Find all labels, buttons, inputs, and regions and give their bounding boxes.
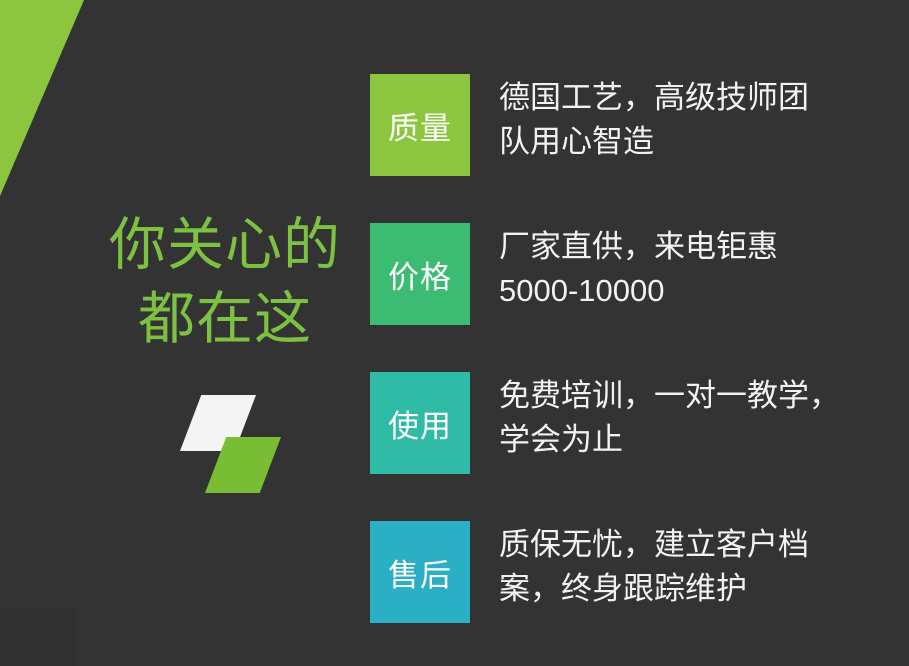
feature-badge-after-sales: 售后 xyxy=(370,521,470,623)
feature-description-line-1: 免费培训，一对一教学， xyxy=(499,374,909,418)
feature-description-line-2: 队用心智造 xyxy=(499,120,909,164)
feature-description-line-1: 德国工艺，高级技师团 xyxy=(499,76,909,120)
feature-row-price: 价格 厂家直供，来电钜惠 5000-10000 xyxy=(370,223,909,325)
feature-row-usage: 使用 免费培训，一对一教学， 学会为止 xyxy=(370,372,909,474)
page-title-line-2: 都在这 xyxy=(60,282,390,356)
feature-badge-usage: 使用 xyxy=(370,372,470,474)
feature-description-quality: 德国工艺，高级技师团 队用心智造 xyxy=(499,74,909,164)
feature-badge-price: 价格 xyxy=(370,223,470,325)
feature-description-line-1: 质保无忧，建立客户档 xyxy=(499,523,909,567)
feature-description-line-1: 厂家直供，来电钜惠 xyxy=(499,225,909,269)
feature-description-price: 厂家直供，来电钜惠 5000-10000 xyxy=(499,223,909,313)
feature-row-after-sales: 售后 质保无忧，建立客户档 案，终身跟踪维护 xyxy=(370,521,909,623)
logo-mark xyxy=(178,393,283,495)
slide-canvas: 你关心的 都在这 质量 德国工艺，高级技师团 队用心智造 价格 厂家直供，来电钜… xyxy=(0,0,909,666)
feature-description-line-2: 5000-10000 xyxy=(499,269,909,313)
feature-description-usage: 免费培训，一对一教学， 学会为止 xyxy=(499,372,909,462)
corner-triangle-decoration xyxy=(0,0,84,196)
feature-description-line-2: 学会为止 xyxy=(499,418,909,462)
feature-description-line-2: 案，终身跟踪维护 xyxy=(499,567,909,611)
page-title: 你关心的 都在这 xyxy=(60,208,390,356)
feature-badge-quality: 质量 xyxy=(370,74,470,176)
page-title-line-1: 你关心的 xyxy=(60,208,390,282)
feature-row-quality: 质量 德国工艺，高级技师团 队用心智造 xyxy=(370,74,909,176)
feature-description-after-sales: 质保无忧，建立客户档 案，终身跟踪维护 xyxy=(499,521,909,611)
feature-list: 质量 德国工艺，高级技师团 队用心智造 价格 厂家直供，来电钜惠 5000-10… xyxy=(370,0,909,666)
bottom-left-panel-decoration xyxy=(0,608,78,666)
